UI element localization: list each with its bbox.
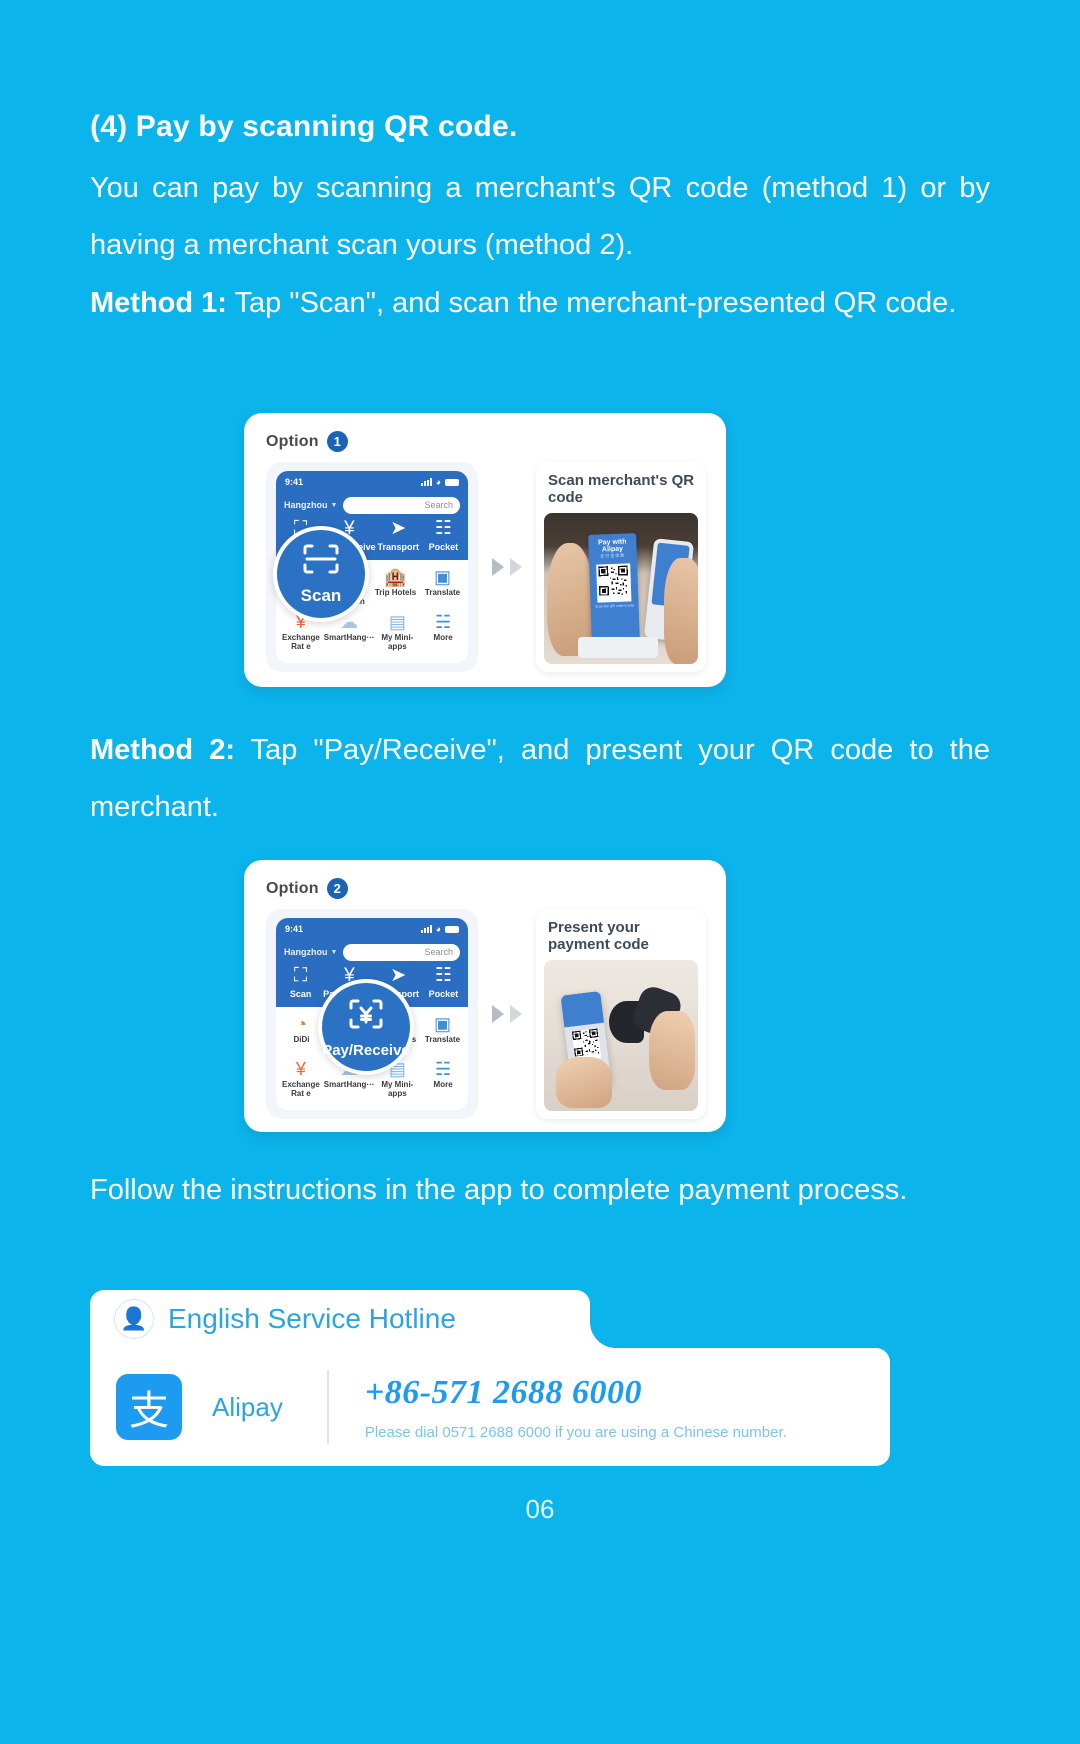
page-heading: (4) Pay by scanning QR code. (90, 110, 990, 144)
bubble-label: Pay/Receive (322, 1042, 410, 1059)
quick-action-pocket[interactable]: ☷ Pocket (421, 964, 466, 999)
phone-mock-2: 9:41 ◕ Hangzhou ▼ Search (266, 909, 478, 1119)
wifi-icon: ◕ (436, 925, 441, 934)
intro-paragraph: You can pay by scanning a merchant's QR … (90, 160, 990, 274)
hand-holding-phone (556, 1057, 611, 1108)
city-label: Hangzhou (284, 500, 328, 510)
phone-status-bar: 9:41 ◕ (276, 918, 468, 940)
translate-icon: ▣ (419, 566, 466, 588)
option-badge-2: Option 2 (266, 878, 706, 899)
hotline-title: English Service Hotline (168, 1303, 456, 1335)
standee-subtitle: 支付宝收款 (589, 552, 637, 560)
alipay-logo: 支 (116, 1374, 182, 1440)
scan-icon: ⛶ (278, 964, 323, 988)
bubble-label: Scan (301, 586, 342, 606)
hotline-body: 支 Alipay +86-571 2688 6000 Please dial 0… (90, 1348, 890, 1466)
scan-highlight-bubble[interactable]: Scan (273, 526, 369, 622)
translate-icon: ▣ (419, 1013, 466, 1035)
photo-panel-2: Present your payment code (536, 909, 706, 1119)
photo-present-payment-code (544, 960, 698, 1111)
transport-icon: ➤ (376, 517, 421, 541)
pay-receive-highlight-bubble[interactable]: Pay/Receive (318, 979, 414, 1075)
standee-caption: Scan the QR code to pay (591, 604, 639, 610)
hotline-card: 👤 English Service Hotline 支 Alipay +86-5… (90, 1290, 890, 1466)
arrow-right-icon (492, 1005, 504, 1023)
brochure-page: (4) Pay by scanning QR code. You can pay… (0, 0, 1080, 1744)
photo-scan-merchant-qr: Pay with Alipay 支付宝收款 (544, 513, 698, 664)
phone-status-bar: 9:41 ◕ (276, 471, 468, 493)
mini-apps-icon: ▤ (374, 611, 420, 633)
qr-code-icon (597, 564, 632, 604)
app-more[interactable]: ☵ More (420, 1058, 466, 1098)
divider (327, 1370, 329, 1444)
illustration-card-option-1: Option 1 9:41 ◕ (244, 413, 726, 687)
hand-right (664, 558, 698, 664)
phone-mock-1: 9:41 ◕ Hangzhou ▼ Search (266, 462, 478, 672)
option-number: 2 (327, 878, 348, 899)
quick-action-scan[interactable]: ⛶ Scan (278, 964, 323, 999)
signal-icon (421, 478, 432, 486)
status-time: 9:41 (285, 924, 303, 934)
arrow-right-icon-secondary (510, 558, 522, 576)
status-time: 9:41 (285, 477, 303, 487)
arrow-right-icon-secondary (510, 1005, 522, 1023)
flow-arrows-1 (478, 558, 536, 576)
pocket-icon: ☷ (421, 964, 466, 988)
method1-paragraph: Method 1: Tap "Scan", and scan the merch… (90, 275, 990, 332)
photo-panel-1: Scan merchant's QR code Pay with Alipay … (536, 462, 706, 672)
signal-icon (421, 925, 432, 933)
hotline-note: Please dial 0571 2688 6000 if you are us… (365, 1424, 787, 1441)
method2-paragraph: Method 2: Tap "Pay/Receive", and present… (90, 722, 990, 836)
hand-holding-scanner (649, 1011, 695, 1090)
merchant-qr-standee: Pay with Alipay 支付宝收款 (588, 533, 639, 643)
chevron-down-icon: ▼ (331, 502, 338, 509)
illustration-card-option-2: Option 2 9:41 ◕ (244, 860, 726, 1132)
pay-receive-icon (346, 996, 386, 1038)
flow-arrows-2 (478, 1005, 536, 1023)
hotline-tab: 👤 English Service Hotline (90, 1290, 590, 1348)
more-icon: ☵ (420, 611, 466, 633)
trip-hotels-icon: 🏨 (372, 566, 419, 588)
method2-lead: Method 2: (90, 734, 235, 766)
exchange-rate-icon: ¥ (278, 1058, 324, 1080)
wifi-icon: ◕ (436, 478, 441, 487)
scan-icon (301, 542, 341, 582)
quick-action-transport[interactable]: ➤ Transport (376, 517, 421, 552)
page-number: 06 (0, 1494, 1080, 1525)
app-translate[interactable]: ▣ Translate (419, 566, 466, 606)
battery-icon (445, 926, 459, 933)
more-icon: ☵ (420, 1058, 466, 1080)
brand-label: Alipay (212, 1392, 283, 1423)
method1-lead: Method 1: (90, 287, 227, 319)
standee-base (578, 637, 658, 658)
option-badge-1: Option 1 (266, 431, 706, 452)
battery-icon (445, 479, 459, 486)
closing-paragraph: Follow the instructions in the app to co… (90, 1162, 990, 1219)
quick-action-pocket[interactable]: ☷ Pocket (421, 517, 466, 552)
option-number: 1 (327, 431, 348, 452)
search-input[interactable]: Search (343, 497, 460, 514)
photo-title: Scan merchant's QR code (548, 472, 698, 506)
arrow-right-icon (492, 558, 504, 576)
customer-service-agent-icon: 👤 (114, 1299, 154, 1339)
search-input[interactable]: Search (343, 944, 460, 961)
chevron-down-icon: ▼ (331, 949, 338, 956)
option-label: Option (266, 880, 319, 898)
hotline-number[interactable]: +86-571 2688 6000 (365, 1374, 787, 1412)
app-exchange-rate[interactable]: ¥ Exchange Rat e (278, 1058, 324, 1098)
app-translate[interactable]: ▣ Translate (419, 1013, 466, 1053)
app-trip-hotels[interactable]: 🏨 Trip Hotels (372, 566, 419, 606)
pocket-icon: ☷ (421, 517, 466, 541)
method1-text: Tap "Scan", and scan the merchant-presen… (227, 287, 956, 319)
photo-title: Present your payment code (548, 919, 698, 953)
app-more[interactable]: ☵ More (420, 611, 466, 651)
option-label: Option (266, 433, 319, 451)
city-label: Hangzhou (284, 947, 328, 957)
app-my-mini-apps[interactable]: ▤ My Mini-apps (374, 611, 420, 651)
